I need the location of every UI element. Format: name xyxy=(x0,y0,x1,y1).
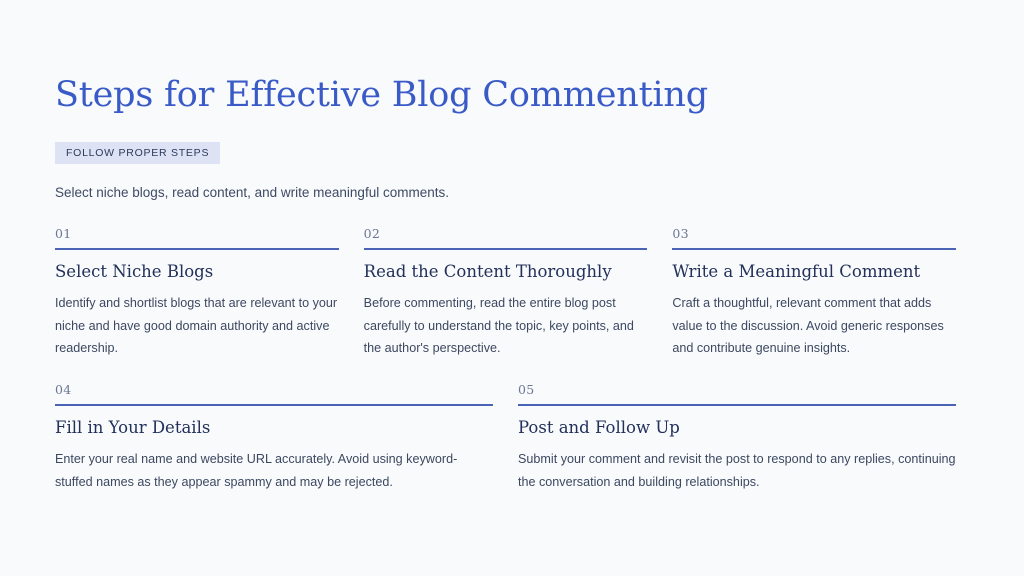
step-description: Identify and shortlist blogs that are re… xyxy=(55,292,339,359)
slide: Steps for Effective Blog Commenting FOLL… xyxy=(0,0,1024,576)
steps-row-bottom: 04 Fill in Your Details Enter your real … xyxy=(55,384,968,493)
step-number: 01 xyxy=(55,228,339,248)
step-card-02[interactable]: 02 Read the Content Thoroughly Before co… xyxy=(364,228,660,359)
steps-grid: 01 Select Niche Blogs Identify and short… xyxy=(55,228,968,493)
step-rule xyxy=(55,404,493,406)
step-title: Fill in Your Details xyxy=(55,418,493,439)
step-description: Before commenting, read the entire blog … xyxy=(364,292,648,359)
step-number: 04 xyxy=(55,384,493,404)
step-title: Select Niche Blogs xyxy=(55,262,339,283)
step-number: 02 xyxy=(364,228,648,248)
status-badge: FOLLOW PROPER STEPS xyxy=(55,142,220,165)
step-number: 03 xyxy=(672,228,956,248)
step-title: Post and Follow Up xyxy=(518,418,956,439)
step-title: Read the Content Thoroughly xyxy=(364,262,648,283)
step-number: 05 xyxy=(518,384,956,404)
step-description: Submit your comment and revisit the post… xyxy=(518,448,956,493)
slide-header: Steps for Effective Blog Commenting FOLL… xyxy=(55,74,975,203)
steps-row-top: 01 Select Niche Blogs Identify and short… xyxy=(55,228,968,359)
step-rule xyxy=(672,248,956,250)
step-card-03[interactable]: 03 Write a Meaningful Comment Craft a th… xyxy=(672,228,968,359)
step-card-04[interactable]: 04 Fill in Your Details Enter your real … xyxy=(55,384,505,493)
page-title: Steps for Effective Blog Commenting xyxy=(55,74,975,117)
step-description: Enter your real name and website URL acc… xyxy=(55,448,493,493)
step-title: Write a Meaningful Comment xyxy=(672,262,956,283)
step-rule xyxy=(518,404,956,406)
step-card-05[interactable]: 05 Post and Follow Up Submit your commen… xyxy=(518,384,968,493)
page-subtitle: Select niche blogs, read content, and wr… xyxy=(55,183,975,203)
step-description: Craft a thoughtful, relevant comment tha… xyxy=(672,292,956,359)
step-rule xyxy=(364,248,648,250)
step-rule xyxy=(55,248,339,250)
step-card-01[interactable]: 01 Select Niche Blogs Identify and short… xyxy=(55,228,351,359)
